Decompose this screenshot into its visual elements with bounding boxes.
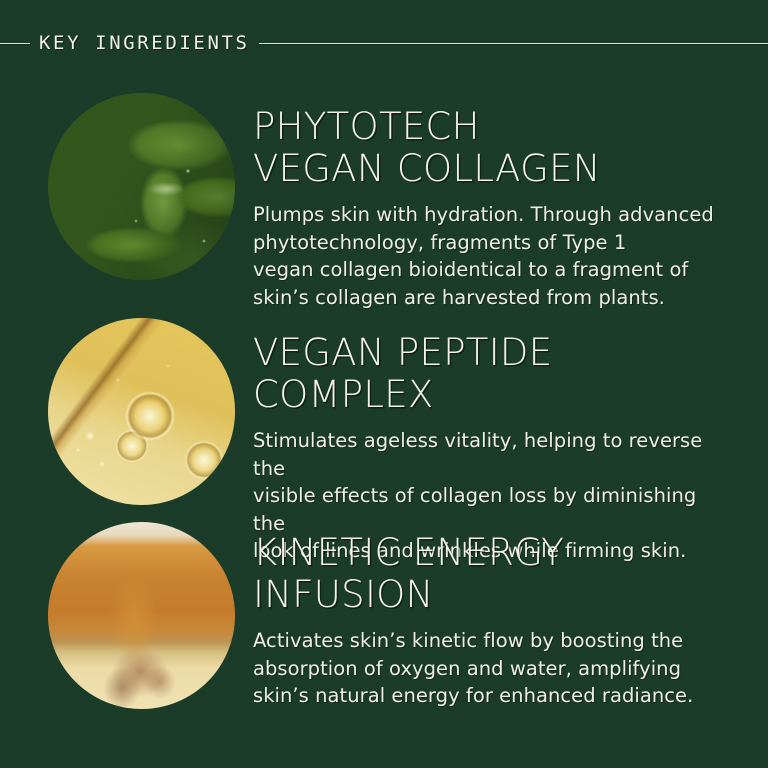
- ingredient-description: Plumps skin with hydration. Through adva…: [253, 201, 733, 311]
- header-label: KEY INGREDIENTS: [30, 32, 259, 54]
- description-line: phytotechnology, fragments of Type 1: [253, 229, 733, 257]
- header-rule-left: [0, 43, 30, 44]
- ingredient-title: PHYTOTECH VEGAN COLLAGEN: [253, 106, 733, 190]
- ingredient-image-amber-powder-diffusing-in-cream-liquid: [48, 522, 235, 709]
- ingredient-text-block: VEGAN PEPTIDE COMPLEX Stimulates ageless…: [253, 332, 733, 565]
- description-line: skin’s natural energy for enhanced radia…: [253, 682, 733, 710]
- description-line: Plumps skin with hydration. Through adva…: [253, 201, 733, 229]
- powder-photo-art: [48, 522, 235, 709]
- ingredient-image-green-plant-leaves-with-water-droplets: [48, 93, 235, 280]
- ingredient-title-line-1: PHYTOTECH: [253, 106, 733, 148]
- ingredient-text-block: PHYTOTECH VEGAN COLLAGEN Plumps skin wit…: [253, 106, 733, 311]
- ingredient-title-line-2: COMPLEX: [253, 374, 733, 416]
- ingredient-description: Activates skin’s kinetic flow by boostin…: [253, 627, 733, 710]
- ingredient-title-line-1: VEGAN PEPTIDE: [253, 332, 733, 374]
- description-line: visible effects of collagen loss by dimi…: [253, 482, 733, 537]
- description-line: Stimulates ageless vitality, helping to …: [253, 427, 733, 482]
- ingredient-title-line-2: VEGAN COLLAGEN: [253, 148, 733, 190]
- ingredient-title-line-1: KINETIC ENERGY: [253, 532, 733, 574]
- description-line: Activates skin’s kinetic flow by boostin…: [253, 627, 733, 655]
- ingredient-image-golden-oil-with-bubbles: [48, 318, 235, 505]
- description-line: vegan collagen bioidentical to a fragmen…: [253, 256, 733, 284]
- ingredient-title-line-2: INFUSION: [253, 574, 733, 616]
- ingredient-title: KINETIC ENERGY INFUSION: [253, 532, 733, 616]
- ingredient-title: VEGAN PEPTIDE COMPLEX: [253, 332, 733, 416]
- plant-photo-art: [48, 93, 235, 280]
- description-line: absorption of oxygen and water, amplifyi…: [253, 655, 733, 683]
- oil-photo-art: [48, 318, 235, 505]
- section-header: KEY INGREDIENTS: [0, 28, 768, 58]
- header-rule-right: [259, 43, 768, 44]
- ingredient-text-block: KINETIC ENERGY INFUSION Activates skin’s…: [253, 532, 733, 710]
- key-ingredients-infographic: KEY INGREDIENTS PHYTOTECH VEGAN COLLAGEN…: [0, 0, 768, 768]
- description-line: skin’s collagen are harvested from plant…: [253, 284, 733, 312]
